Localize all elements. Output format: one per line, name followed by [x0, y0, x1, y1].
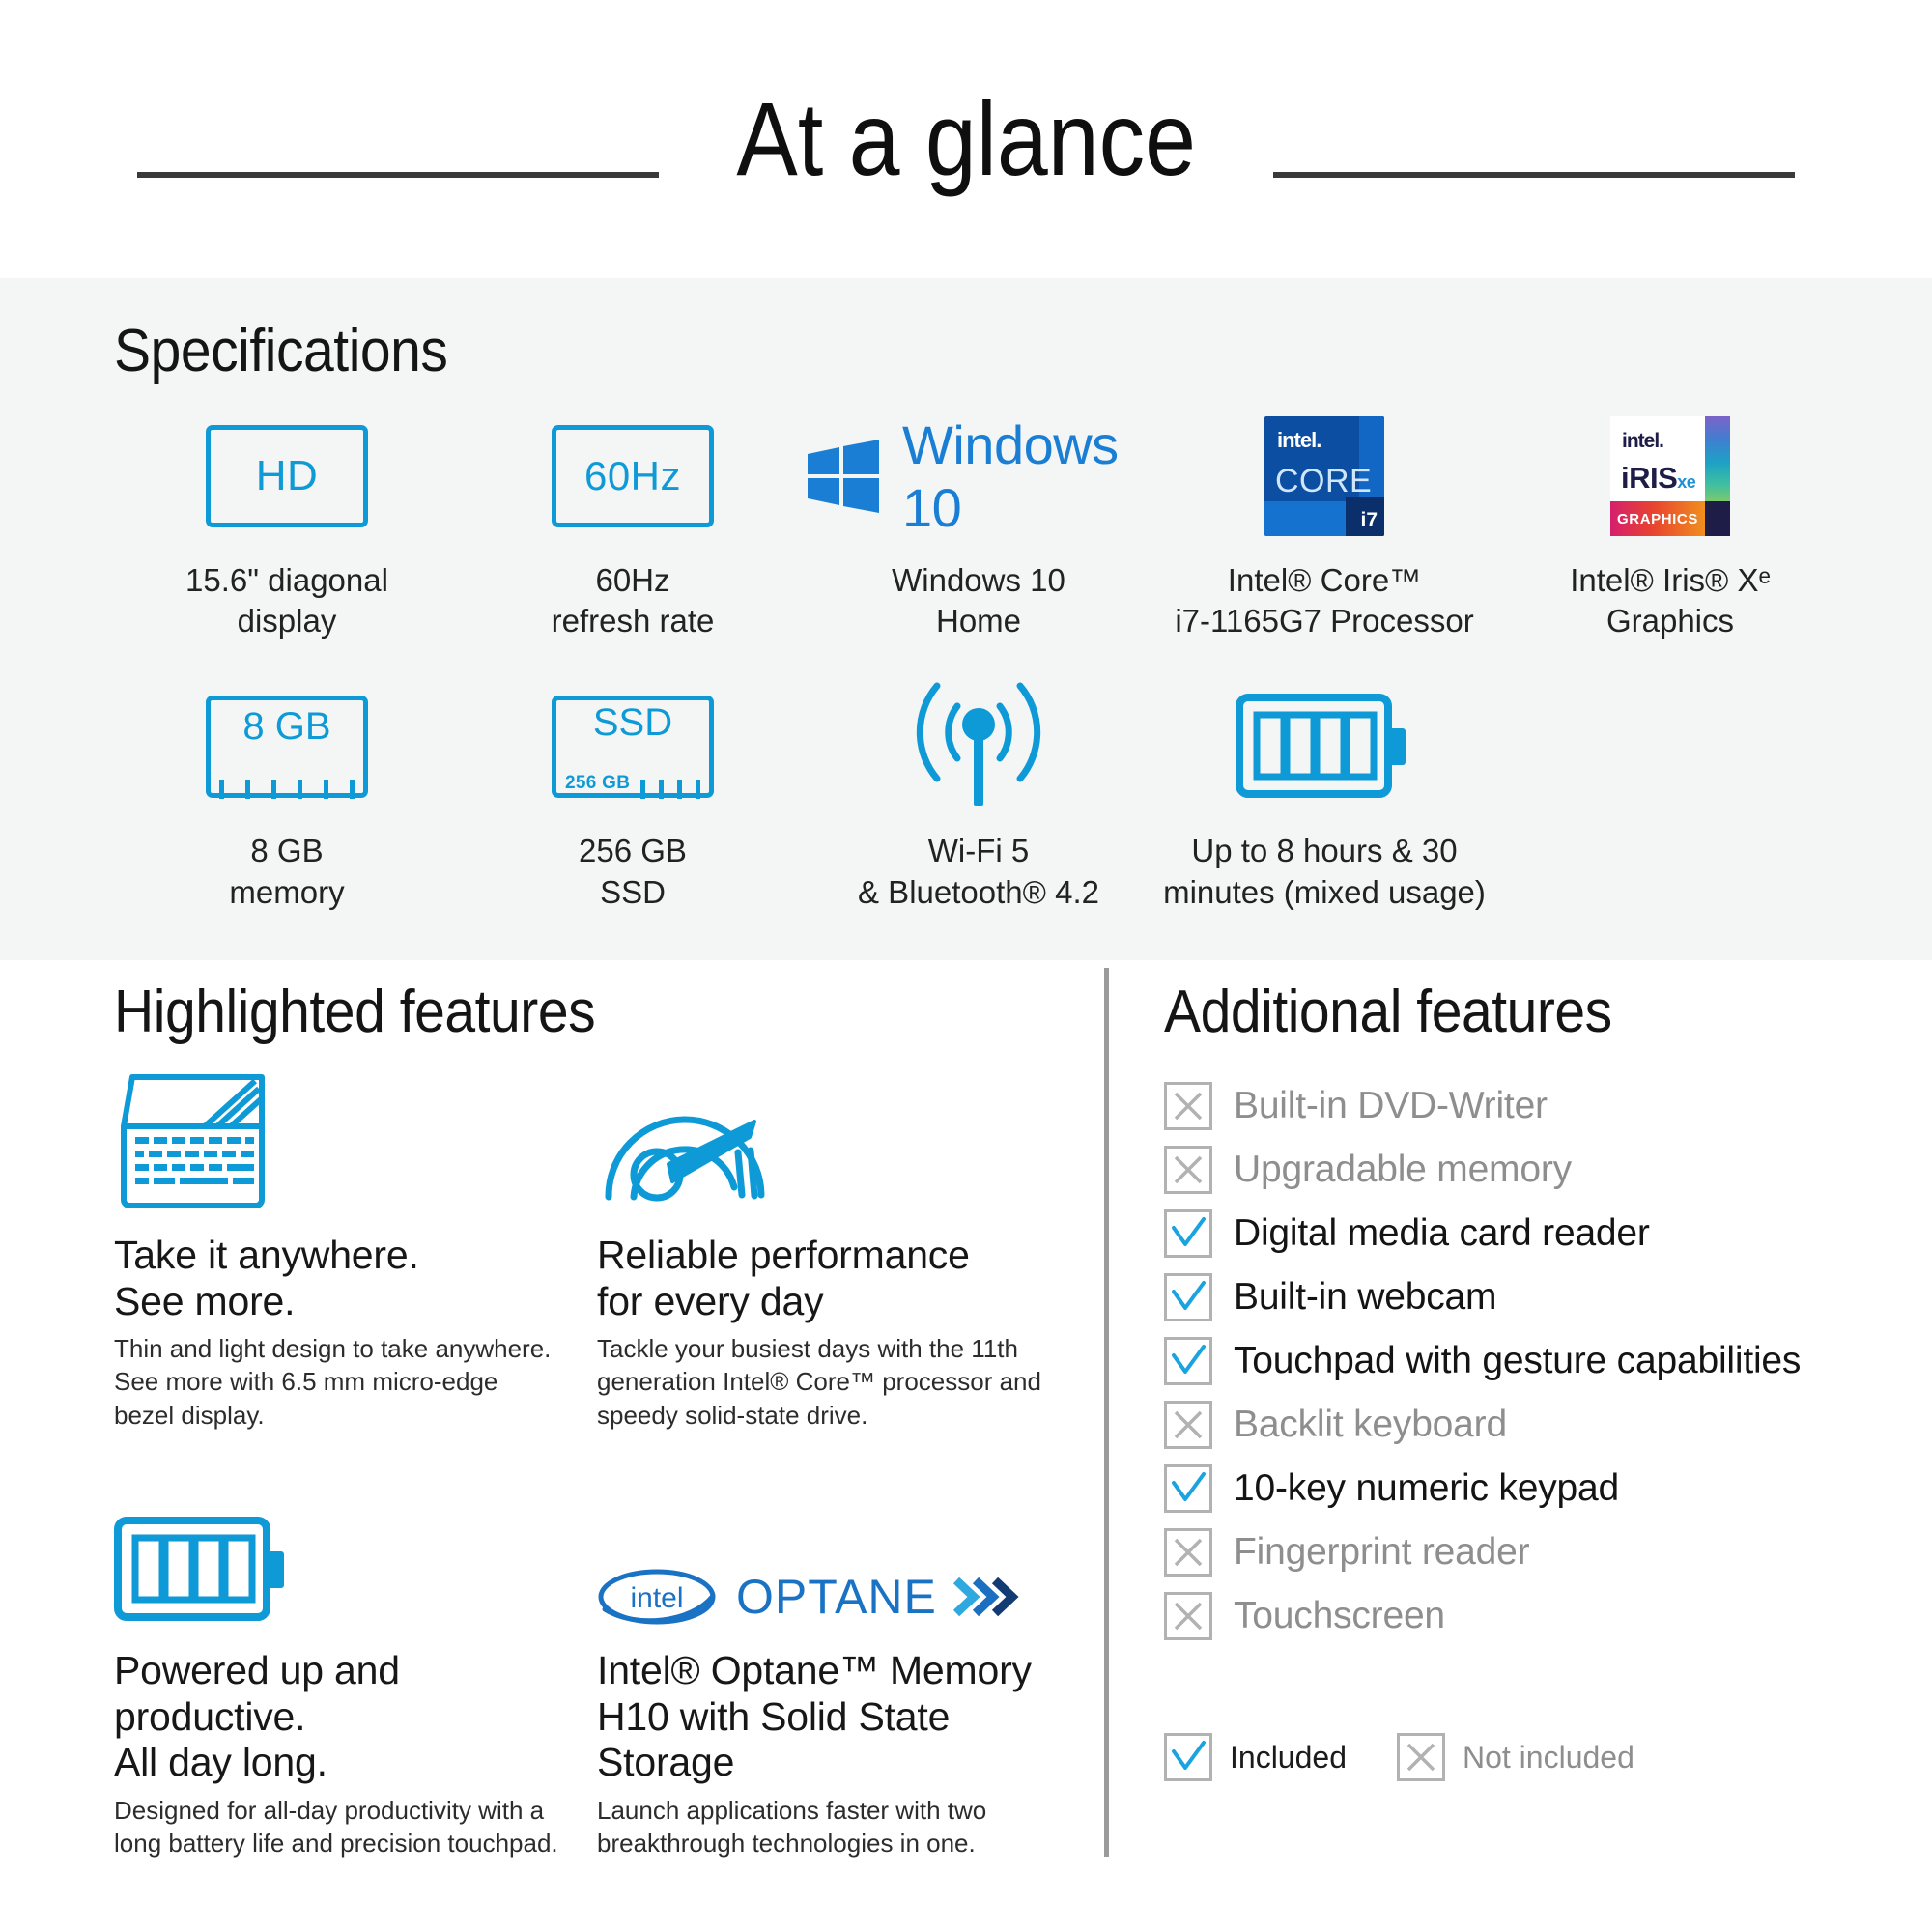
additional-feature-label: Digital media card reader	[1234, 1212, 1650, 1255]
additional-feature-label: Upgradable memory	[1234, 1149, 1572, 1191]
spec-label-display: 15.6" diagonal display	[185, 560, 388, 641]
spec-item-storage: SSD 256 GB 256 GB SSD	[460, 674, 806, 912]
additional-feature-row: Upgradable memory	[1164, 1138, 1860, 1202]
additional-feature-row: Fingerprint reader	[1164, 1520, 1860, 1584]
feature-heading: Powered up and productive. All day long.	[114, 1648, 558, 1786]
legend: Included Not included	[1164, 1733, 1685, 1781]
memory-chip-icon: 8 GB	[206, 674, 368, 819]
ssd-chip-icon: SSD 256 GB	[552, 674, 714, 819]
highlighted-features-grid: Take it anywhere. See more. Thin and lig…	[114, 1066, 1070, 1860]
feature-take-it-anywhere: Take it anywhere. See more. Thin and lig…	[114, 1066, 558, 1432]
header-rule-left	[137, 172, 659, 178]
intel-optane-logo-icon: intel OPTANE	[597, 1482, 1041, 1627]
spec-label-memory: 8 GB memory	[229, 831, 344, 912]
spec-item-wireless: Wi-Fi 5 & Bluetooth® 4.2	[806, 674, 1151, 912]
page-title: At a glance	[736, 87, 1196, 191]
additional-features-list: Built-in DVD-Writer Upgradable memory Di…	[1164, 1074, 1860, 1648]
feature-body: Tackle your busiest days with the 11th g…	[597, 1332, 1041, 1432]
refresh-badge-label: 60Hz	[552, 425, 714, 527]
spec-label-os: Windows 10 Home	[892, 560, 1065, 641]
specifications-section: Specifications HD 15.6" diagonal display…	[0, 278, 1932, 960]
iris-badge-graphics-text: GRAPHICS	[1617, 511, 1698, 527]
windows-flag-icon	[806, 439, 881, 514]
additional-feature-label: Backlit keyboard	[1234, 1404, 1507, 1446]
feature-reliable-performance: Reliable performance for every day Tackl…	[597, 1066, 1041, 1432]
core-badge-core-text: CORE	[1275, 463, 1372, 500]
column-divider	[1104, 968, 1109, 1857]
spec-item-battery: Up to 8 hours & 30 minutes (mixed usage)	[1151, 674, 1497, 912]
additional-feature-label: Fingerprint reader	[1234, 1531, 1529, 1574]
check-icon	[1164, 1337, 1212, 1385]
spec-label-wireless: Wi-Fi 5 & Bluetooth® 4.2	[858, 831, 1099, 912]
header-rule-right	[1273, 172, 1795, 178]
additional-feature-row: Digital media card reader	[1164, 1202, 1860, 1265]
iris-badge-xe-text: xe	[1677, 472, 1695, 492]
feature-heading: Intel® Optane™ Memory H10 with Solid Sta…	[597, 1648, 1041, 1786]
laptop-icon	[114, 1066, 558, 1211]
lower-section: Highlighted features Additional features	[0, 960, 1932, 1932]
additional-feature-row: Backlit keyboard	[1164, 1393, 1860, 1457]
feature-heading: Take it anywhere. See more.	[114, 1233, 558, 1324]
at-a-glance-page: At a glance Specifications HD 15.6" diag…	[0, 0, 1932, 1932]
check-icon	[1164, 1209, 1212, 1258]
windows-wordmark: Windows 10	[902, 413, 1151, 539]
speedometer-icon	[597, 1066, 1041, 1211]
check-icon	[1164, 1273, 1212, 1321]
additional-feature-row: Touchpad with gesture capabilities	[1164, 1329, 1860, 1393]
battery-icon	[114, 1482, 558, 1627]
feature-body: Launch applications faster with two brea…	[597, 1794, 1041, 1861]
x-icon	[1164, 1592, 1212, 1640]
additional-feature-label: Touchscreen	[1234, 1595, 1445, 1637]
x-icon	[1164, 1401, 1212, 1449]
feature-body: Thin and light design to take anywhere. …	[114, 1332, 558, 1432]
additional-features-title: Additional features	[1164, 978, 1612, 1046]
intel-iris-xe-badge-icon: intel. iRISxe GRAPHICS	[1610, 404, 1730, 549]
svg-text:intel: intel	[630, 1582, 683, 1614]
x-icon	[1164, 1528, 1212, 1577]
spec-item-memory: 8 GB 8 GB memory	[114, 674, 460, 912]
iris-badge-iris-text: iRIS	[1621, 461, 1677, 495]
spec-item-os: Windows 10 Windows 10 Home	[806, 404, 1151, 641]
wifi-icon	[892, 674, 1065, 819]
spec-label-processor: Intel® Core™ i7-1165G7 Processor	[1175, 560, 1473, 641]
legend-not-included-label: Not included	[1463, 1740, 1634, 1776]
x-icon	[1164, 1082, 1212, 1130]
spec-label-storage: 256 GB SSD	[579, 831, 687, 912]
spec-item-refresh-rate: 60Hz 60Hz refresh rate	[460, 404, 806, 641]
hd-display-icon: HD	[206, 404, 368, 549]
refresh-rate-icon: 60Hz	[552, 404, 714, 549]
feature-body: Designed for all-day productivity with a…	[114, 1794, 558, 1861]
additional-feature-label: 10-key numeric keypad	[1234, 1467, 1619, 1510]
specifications-grid: HD 15.6" diagonal display 60Hz 60Hz refr…	[114, 404, 1843, 913]
feature-powered-up: Powered up and productive. All day long.…	[114, 1482, 558, 1860]
spec-item-graphics: intel. iRISxe GRAPHICS Intel® Iris® Xᵉ G…	[1497, 404, 1843, 641]
intel-swoosh-icon: intel	[597, 1567, 721, 1627]
battery-icon	[1236, 674, 1414, 819]
feature-heading: Reliable performance for every day	[597, 1233, 1041, 1324]
hd-badge-label: HD	[206, 425, 368, 527]
additional-feature-label: Touchpad with gesture capabilities	[1234, 1340, 1801, 1382]
x-icon	[1164, 1146, 1212, 1194]
ssd-capacity-label: 256 GB	[565, 773, 630, 794]
check-icon	[1164, 1464, 1212, 1513]
spec-label-refresh-rate: 60Hz refresh rate	[552, 560, 715, 641]
page-header: At a glance	[0, 0, 1932, 278]
additional-feature-row: 10-key numeric keypad	[1164, 1457, 1860, 1520]
feature-intel-optane: intel OPTANE Intel® Optane™ Memory H10 w…	[597, 1482, 1041, 1860]
core-badge-sku-text: i7	[1360, 509, 1378, 532]
ssd-badge-label: SSD	[552, 701, 714, 745]
additional-feature-row: Built-in DVD-Writer	[1164, 1074, 1860, 1138]
optane-chevrons-icon	[952, 1575, 1022, 1619]
spec-label-battery: Up to 8 hours & 30 minutes (mixed usage)	[1163, 831, 1486, 912]
specifications-title: Specifications	[114, 317, 448, 385]
check-icon	[1164, 1733, 1212, 1781]
core-badge-intel-text: intel.	[1277, 428, 1321, 453]
memory-badge-label: 8 GB	[206, 705, 368, 749]
additional-feature-label: Built-in webcam	[1234, 1276, 1496, 1319]
additional-feature-row: Built-in webcam	[1164, 1265, 1860, 1329]
optane-wordmark: OPTANE	[736, 1569, 937, 1625]
intel-core-i7-badge-icon: intel. CORE i7	[1264, 404, 1384, 549]
spec-item-processor: intel. CORE i7 Intel® Core™ i7-1165G7 Pr…	[1151, 404, 1497, 641]
x-icon	[1397, 1733, 1445, 1781]
highlighted-features-title: Highlighted features	[114, 978, 595, 1046]
iris-badge-intel-text: intel.	[1622, 430, 1663, 453]
spec-label-graphics: Intel® Iris® Xᵉ Graphics	[1570, 560, 1771, 641]
additional-feature-label: Built-in DVD-Writer	[1234, 1085, 1548, 1127]
windows-logo-icon: Windows 10	[806, 404, 1151, 549]
legend-included-label: Included	[1230, 1740, 1347, 1776]
spec-item-display: HD 15.6" diagonal display	[114, 404, 460, 641]
additional-feature-row: Touchscreen	[1164, 1584, 1860, 1648]
